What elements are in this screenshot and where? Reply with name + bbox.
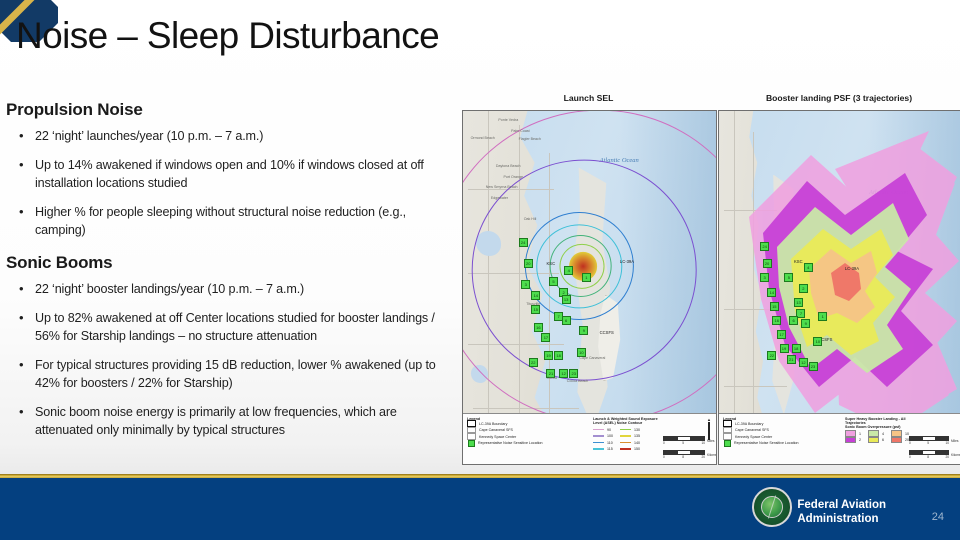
contour-swatch (620, 435, 631, 437)
noise-sensitive-location-marker: 18 (792, 344, 801, 353)
map-label-lc39a: LC-39A (845, 266, 859, 271)
ccsfs-boundary-swatch (723, 427, 732, 434)
contour-level-value: 90 (607, 428, 611, 432)
list-item: Sonic boom noise energy is primarily at … (0, 404, 462, 440)
noise-sensitive-location-marker: 23 (569, 369, 578, 378)
list-item: Up to 82% awakened at off Center locatio… (0, 310, 462, 346)
noise-sensitive-location-marker: 10 (813, 337, 822, 346)
contour-swatch (593, 448, 604, 450)
content-column: Propulsion Noise 22 ‘night’ launches/yea… (0, 100, 462, 451)
agency-name-line1: Federal Aviation (797, 498, 886, 512)
overpressure-level-value: 10 (905, 432, 909, 436)
noise-sensitive-location-marker: 12 (559, 369, 568, 378)
scale-tick: 5 (682, 441, 684, 445)
scale-tick: 10 (945, 441, 949, 445)
legend-item-label: Representative Noise Sensitive Location (478, 441, 543, 445)
contour-level-item: 90 (593, 427, 613, 432)
scale-tick: 5 (927, 441, 929, 445)
contour-level-value: 130 (634, 428, 640, 432)
contour-level-item: 135 (620, 434, 640, 439)
noise-sensitive-location-marker: 10 (577, 348, 586, 357)
scale-bar-kilometers: 0 8 20 Kilometers (663, 450, 705, 459)
noise-sensitive-location-marker: 17 (777, 330, 786, 339)
city-label: Titusville (526, 302, 540, 306)
contour-level-value: 150 (634, 447, 640, 451)
noise-sensitive-location-marker: 1 (582, 273, 591, 282)
city-label: Flagler Beach (519, 137, 541, 141)
noise-sensitive-location-marker: 9 (801, 319, 810, 328)
noise-sensitive-location-marker: 5 (784, 273, 793, 282)
scale-tick: 20 (945, 455, 949, 459)
legend-item: Cape Canaveral SFS (467, 428, 587, 433)
agency-name: Federal Aviation Administration (797, 498, 886, 526)
noise-sensitive-location-marker: 14 (531, 291, 540, 300)
noise-sensitive-location-marker: 19 (544, 351, 553, 360)
map-label-ccsfs: CCSFS (600, 330, 614, 335)
legend-item-label: LC-39A Boundary (479, 422, 507, 426)
overpressure-level-item: 1 (845, 431, 861, 436)
overpressure-column-3: 10 20 (891, 431, 909, 444)
scale-tick: 10 (701, 441, 705, 445)
legend-item: Representative Noise Sensitive Location (467, 441, 587, 446)
noise-sensitive-location-marker: 20 (524, 259, 533, 268)
scale-unit-label: Kilometers (951, 453, 960, 457)
list-item: Higher % for people sleeping without str… (0, 204, 462, 240)
contour-level-item: 100 (593, 434, 613, 439)
scale-tick: 20 (701, 455, 705, 459)
page-title: Noise – Sleep Disturbance (16, 15, 439, 57)
sonic-boom-footprint-overlay (719, 111, 960, 464)
city-label: Cocoa Beach (567, 379, 589, 383)
legend-item: Kennedy Space Center (723, 434, 841, 439)
contour-level-item: 150 (620, 447, 640, 452)
noise-sensitive-location-marker: 3 (760, 273, 769, 282)
legend-item: Representative Noise Sensitive Location (723, 441, 841, 446)
contour-level-value: 115 (607, 447, 613, 451)
city-label: Daytona Beach (496, 164, 521, 168)
scale-unit-label: Miles (951, 439, 958, 443)
section-heading-sonic-booms: Sonic Booms (6, 253, 462, 273)
faa-seal-icon (752, 487, 792, 527)
slide: Noise – Sleep Disturbance Propulsion Noi… (0, 0, 960, 540)
contour-level-value: 135 (634, 434, 640, 438)
noise-sensitive-location-marker: 24 (519, 238, 528, 247)
city-label: Ormond Beach (471, 136, 495, 140)
map-title-booster-landing-psf: Booster landing PSF (3 trajectories) (718, 93, 960, 103)
map-label-lc39a: LC-39A (620, 259, 634, 264)
contour-level-item: 110 (593, 440, 613, 445)
scale-unit-label: Kilometers (707, 453, 716, 457)
list-item: Up to 14% awakened if windows open and 1… (0, 157, 462, 193)
list-item: 22 ‘night’ booster landings/year (10 p.m… (0, 281, 462, 299)
contour-swatch (620, 448, 631, 450)
overpressure-level-item: 2 (845, 438, 861, 443)
legend-item-label: Cape Canaveral SFS (735, 428, 769, 432)
overpressure-swatch (845, 437, 856, 444)
contour-swatch (593, 429, 604, 431)
city-label: Palm Coast (511, 129, 530, 133)
contour-swatch (620, 442, 631, 444)
city-label: Oak Hill (524, 217, 537, 221)
noise-sensitive-location-marker: 5 (549, 277, 558, 286)
contour-swatch (593, 442, 604, 444)
section-heading-propulsion-noise: Propulsion Noise (6, 100, 462, 120)
city-label: New Smyrna Beach (486, 185, 518, 189)
noise-sensitive-location-marker: 18 (554, 351, 563, 360)
map-title-launch-sel: Launch SEL (462, 93, 715, 103)
overpressure-level-value: 6 (882, 438, 884, 442)
scale-tick: 8 (927, 455, 929, 459)
legend-item: Cape Canaveral SFS (723, 428, 841, 433)
noise-sensitive-location-marker: 17 (541, 333, 550, 342)
city-label: Cocoa (546, 376, 556, 380)
scale-tick: 0 (909, 455, 911, 459)
noise-sensitive-location-marker: 15 (531, 305, 540, 314)
legend-item: LC-39A Boundary (723, 421, 841, 426)
contour-level-item: 140 (620, 440, 640, 445)
noise-sensitive-location-marker: 22 (767, 351, 776, 360)
contour-level-value: 110 (607, 441, 613, 445)
contour-legend-title-line2: Level (ASEL) Noise Contour (593, 421, 677, 425)
legend-item-label: Kennedy Space Center (479, 435, 516, 439)
noise-sensitive-location-marker: 19 (780, 344, 789, 353)
contour-swatch (593, 435, 604, 437)
map-legend-booster-landing-psf: Legend LC-39A Boundary Cape Canaveral SF… (719, 413, 960, 464)
noise-sensitive-location-marker: 6 (562, 316, 571, 325)
map-booster-landing-psf[interactable]: Atlantic Ocean (718, 110, 960, 465)
legend-item-label: LC-39A Boundary (735, 422, 763, 426)
overpressure-level-value: 2 (859, 438, 861, 442)
noise-sensitive-location-marker: 16 (772, 316, 781, 325)
noise-sensitive-location-marker: 15 (770, 302, 779, 311)
contour-levels-column-low: 90 100 110 (593, 427, 613, 453)
ccsfs-boundary-swatch (467, 427, 476, 434)
contour-level-item: 130 (620, 427, 640, 432)
legend-item: Kennedy Space Center (467, 434, 587, 439)
list-item: 22 ‘night’ launches/year (10 p.m. – 7 a.… (0, 128, 462, 146)
noise-sensitive-location-marker: 4 (804, 263, 813, 272)
lc39a-boundary-swatch (723, 420, 732, 427)
page-number: 24 (932, 511, 944, 523)
city-label: Edgewater (491, 196, 508, 200)
overpressure-swatch (891, 437, 902, 444)
scale-bar-miles: 0 5 10 Miles (663, 436, 705, 445)
scale-tick: 0 (909, 441, 911, 445)
noise-sensitive-location-marker: 12 (799, 358, 808, 367)
noise-sensitive-location-marker: 16 (534, 323, 543, 332)
ksc-boundary-swatch (723, 433, 732, 440)
noise-sensitive-location-marker: 6 (789, 316, 798, 325)
list-item: For typical structures providing 15 dB r… (0, 357, 462, 393)
map-legend-launch-sel: Legend LC-39A Boundary Cape Canaveral SF… (463, 413, 716, 464)
scale-bar-miles: 0 5 10 Miles (909, 436, 949, 445)
overpressure-level-item: 10 (891, 431, 909, 436)
overpressure-level-item: 4 (868, 431, 884, 436)
noise-sensitive-location-marker: 20 (763, 259, 772, 268)
noise-sensitive-location-marker: 23 (809, 362, 818, 371)
overpressure-legend-title-line2: Sonic Boom Overpressure (psf) (845, 425, 925, 429)
noise-sensitive-location-marker: 21 (787, 355, 796, 364)
city-label: Cape Canaveral (579, 356, 605, 360)
noise-sensitive-location-marker: 24 (760, 242, 769, 251)
noise-sensitive-location-marker: 3 (521, 280, 530, 289)
overpressure-swatch (891, 430, 902, 437)
globe-icon (761, 496, 783, 518)
contour-level-value: 140 (634, 441, 640, 445)
map-booster-landing-psf-canvas: Atlantic Ocean (719, 111, 960, 464)
scale-bar-kilometers: 0 8 20 Kilometers (909, 450, 949, 459)
contour-level-value: 100 (607, 434, 613, 438)
overpressure-swatch (868, 437, 879, 444)
noise-sensitive-location-swatch (724, 440, 731, 447)
contour-levels-column-high: 130 135 140 (620, 427, 640, 453)
map-launch-sel-canvas: Atlantic Ocean KSC LC-39A CCSFS 24 20 3 … (463, 111, 716, 464)
noise-sensitive-location-marker: 14 (767, 288, 776, 297)
noise-sensitive-location-marker: 13 (794, 298, 803, 307)
scale-tick: 0 (663, 455, 665, 459)
city-label: Port Orange (503, 175, 523, 179)
map-label-ksc: KSC (546, 261, 555, 266)
noise-sensitive-location-swatch (468, 440, 475, 447)
bullet-list-propulsion-noise: 22 ‘night’ launches/year (10 p.m. – 7 a.… (0, 128, 462, 239)
overpressure-column-2: 4 6 (868, 431, 884, 444)
overpressure-level-item: 6 (868, 438, 884, 443)
legend-item-label: Representative Noise Sensitive Location (734, 441, 799, 445)
agency-name-line2: Administration (797, 512, 886, 526)
overpressure-legend-title-line1: Super Heavy Booster Landing - All Trajec… (845, 417, 925, 425)
legend-item-label: Cape Canaveral SFS (479, 428, 513, 432)
noise-sensitive-location-marker: 9 (579, 326, 588, 335)
noise-sensitive-location-marker: 22 (529, 358, 538, 367)
north-arrow-icon: ▲ (707, 418, 711, 440)
noise-sensitive-location-marker: 4 (564, 266, 573, 275)
contour-level-item: 115 (593, 447, 613, 452)
map-label-ksc: KSC (794, 259, 803, 264)
ksc-boundary-swatch (467, 433, 476, 440)
scale-tick: 0 (663, 441, 665, 445)
contour-swatch (620, 429, 631, 431)
overpressure-column-1: 1 2 (845, 431, 861, 444)
lc39a-boundary-swatch (467, 420, 476, 427)
legend-item: LC-39A Boundary (467, 421, 587, 426)
bullet-list-sonic-booms: 22 ‘night’ booster landings/year (10 p.m… (0, 281, 462, 439)
scale-tick: 8 (682, 455, 684, 459)
overpressure-swatch (868, 430, 879, 437)
city-label: Ponte Vedra (498, 118, 518, 122)
noise-sensitive-location-marker: 13 (562, 295, 571, 304)
noise-sensitive-location-marker: 2 (799, 284, 808, 293)
legend-item-label: Kennedy Space Center (735, 435, 772, 439)
overpressure-level-value: 1 (859, 432, 861, 436)
overpressure-swatch (845, 430, 856, 437)
noise-sensitive-location-marker: 1 (818, 312, 827, 321)
overpressure-level-value: 4 (882, 432, 884, 436)
overpressure-level-item: 20 (891, 438, 909, 443)
map-launch-sel[interactable]: Atlantic Ocean KSC LC-39A CCSFS 24 20 3 … (462, 110, 717, 465)
